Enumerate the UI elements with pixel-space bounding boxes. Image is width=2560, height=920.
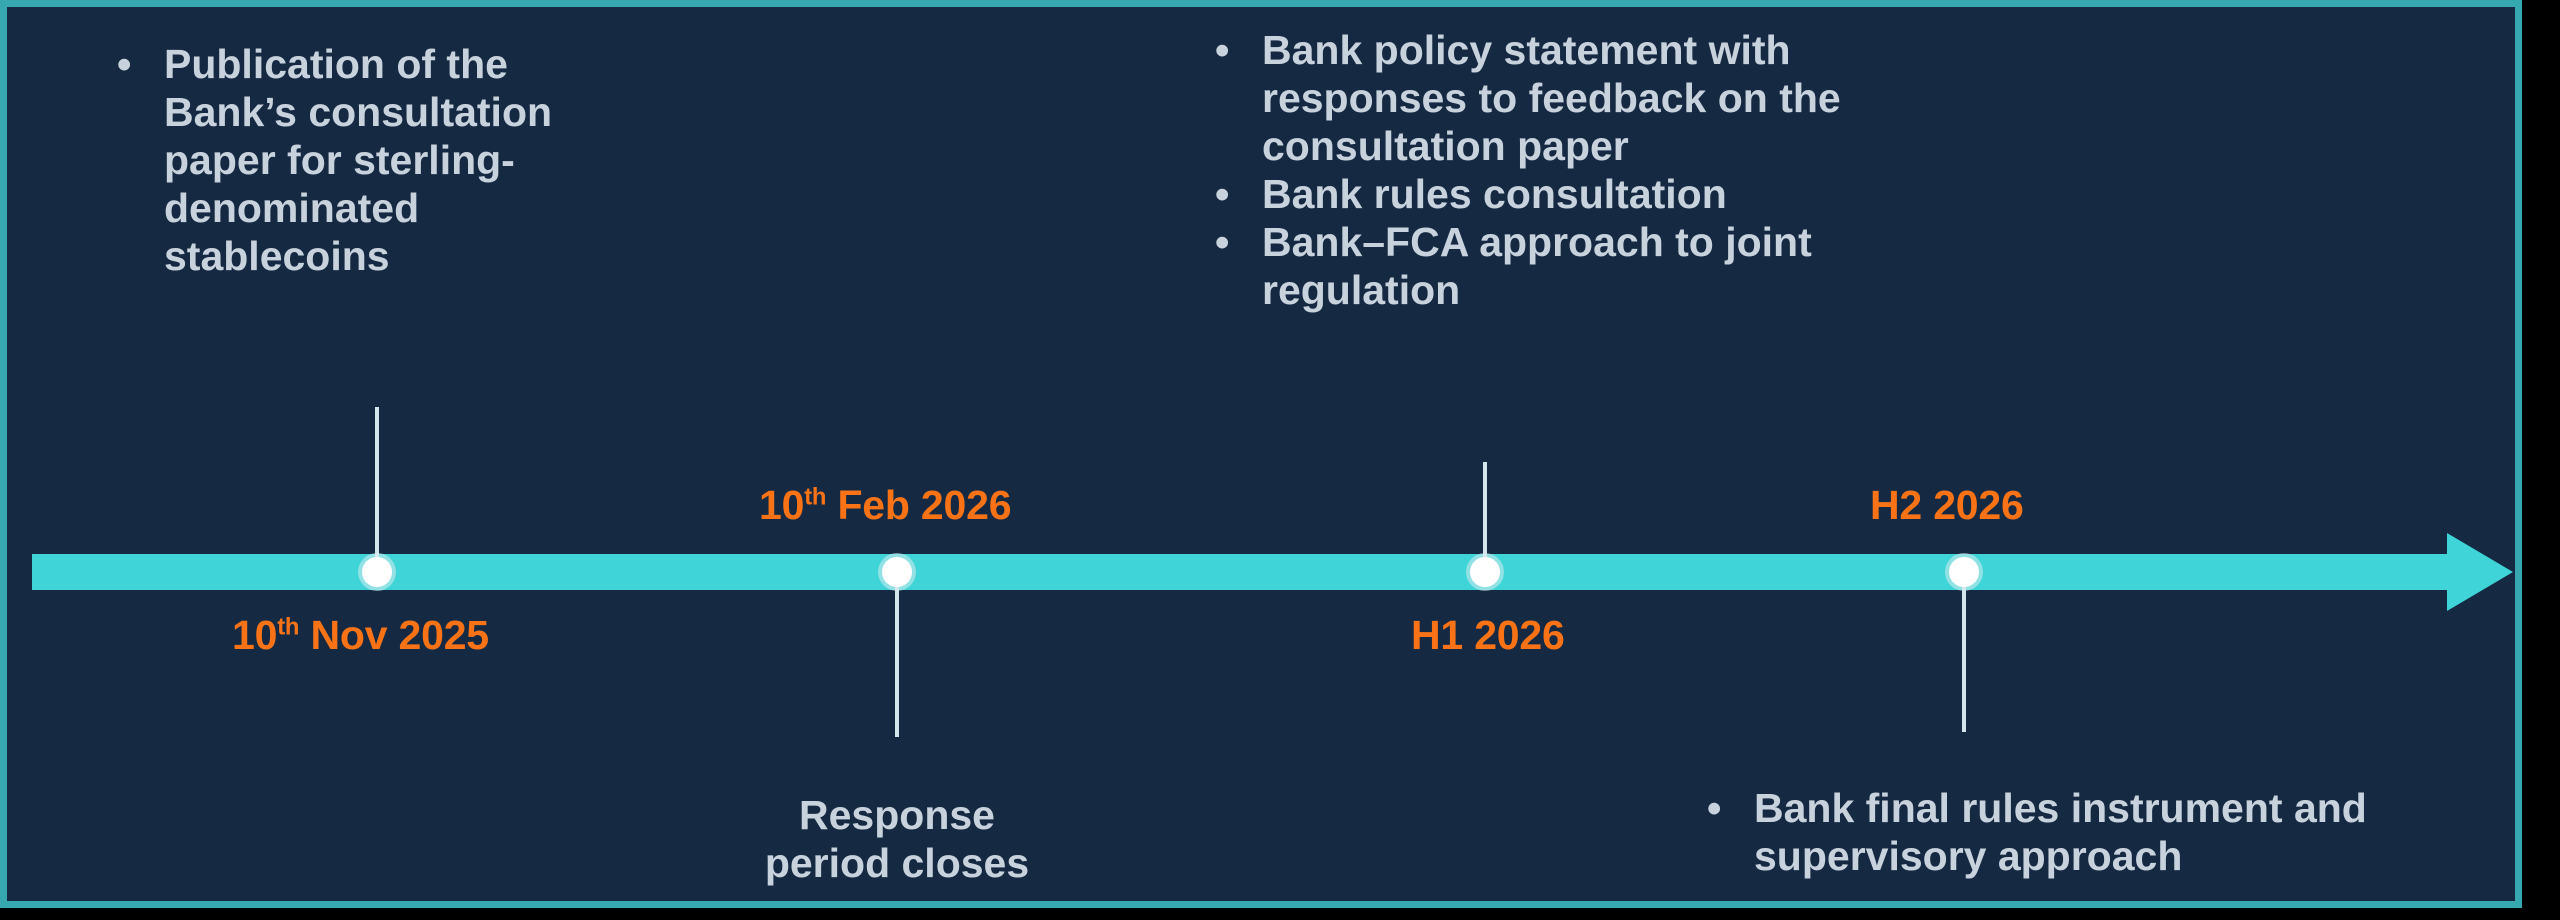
date-label-feb-2026-prefix: 10 xyxy=(759,482,804,528)
connector-line-nov-2025 xyxy=(375,407,379,572)
timeline-axis-bar xyxy=(32,554,2452,590)
date-label-nov-2025-suffix-sup: th xyxy=(277,613,299,640)
date-label-h1-2026: H1 2026 xyxy=(1411,612,1565,659)
date-label-feb-2026: 10th Feb 2026 xyxy=(759,482,1011,529)
connector-line-h1-2026 xyxy=(1483,462,1487,572)
date-label-h1-2026-prefix: H1 2026 xyxy=(1411,612,1565,658)
timeline-slide: 10th Nov 2025 • Publication of the Bank’… xyxy=(0,0,2522,908)
bullet-point-icon: • xyxy=(1707,785,1754,833)
timeline-marker-nov-2025[interactable] xyxy=(362,557,392,587)
list-item: • Bank–FCA approach to joint regulation xyxy=(1215,219,1915,315)
content-block-nov-2025: • Publication of the Bank’s consultation… xyxy=(117,41,617,281)
list-item: • Bank policy statement with responses t… xyxy=(1215,27,1915,171)
list-item: • Bank rules consultation xyxy=(1215,171,1915,219)
list-item: • Bank final rules instrument and superv… xyxy=(1707,785,2497,881)
date-label-nov-2025-rest: Nov 2025 xyxy=(299,612,489,658)
list-item-label: Bank policy statement with responses to … xyxy=(1262,27,1915,171)
list-item-label: Publication of the Bank’s consultation p… xyxy=(164,41,617,281)
timeline-marker-h2-2026[interactable] xyxy=(1949,557,1979,587)
date-label-nov-2025-prefix: 10 xyxy=(232,612,277,658)
content-block-feb-2026: Response period closes xyxy=(747,792,1047,888)
content-block-h1-2026: • Bank policy statement with responses t… xyxy=(1215,27,1915,315)
date-label-feb-2026-suffix-sup: th xyxy=(804,483,826,510)
connector-line-feb-2026 xyxy=(895,572,899,737)
date-label-h2-2026-prefix: H2 2026 xyxy=(1870,482,2024,528)
content-block-h2-2026: • Bank final rules instrument and superv… xyxy=(1707,785,2497,881)
timeline-marker-feb-2026[interactable] xyxy=(882,557,912,587)
list-item-label: Bank rules consultation xyxy=(1262,171,1915,219)
date-label-nov-2025: 10th Nov 2025 xyxy=(232,612,489,659)
timeline-marker-h1-2026[interactable] xyxy=(1470,557,1500,587)
list-item-label: Bank–FCA approach to joint regulation xyxy=(1262,219,1915,315)
date-label-h2-2026: H2 2026 xyxy=(1870,482,2024,529)
list-item-label: Bank final rules instrument and supervis… xyxy=(1754,785,2497,881)
date-label-feb-2026-rest: Feb 2026 xyxy=(826,482,1011,528)
bullet-point-icon: • xyxy=(117,41,164,89)
bullet-point-icon: • xyxy=(1215,171,1262,219)
list-item: • Publication of the Bank’s consultation… xyxy=(117,41,617,281)
timeline-arrow-icon xyxy=(2447,533,2513,611)
bullet-point-icon: • xyxy=(1215,27,1262,75)
content-label-feb-2026: Response period closes xyxy=(765,792,1029,886)
connector-line-h2-2026 xyxy=(1962,572,1966,732)
bullet-point-icon: • xyxy=(1215,219,1262,267)
